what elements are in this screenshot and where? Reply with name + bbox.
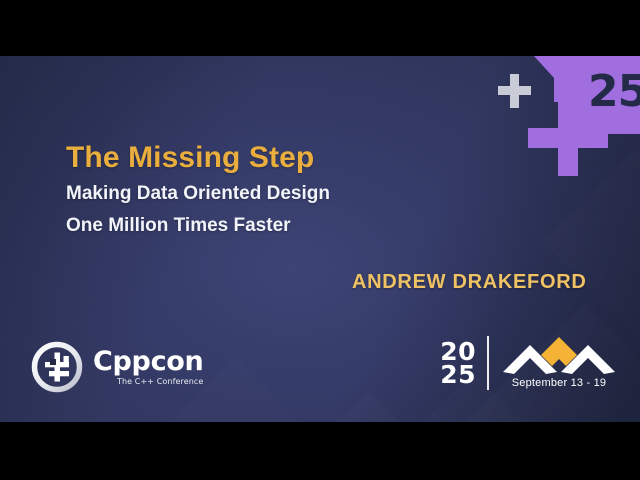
vertical-divider (487, 336, 489, 390)
mountains-and-dates: September 13 - 19 (500, 337, 618, 389)
subtitle-line-1: Making Data Oriented Design (66, 182, 330, 206)
cppcon-wordmark-group: Cppcon The C++ Conference (93, 348, 203, 387)
cppcon-25-corner-badge: 25 (480, 56, 640, 176)
page-title: The Missing Step (66, 142, 330, 174)
event-date-lockup: 20 25 September 13 - 19 (440, 336, 618, 390)
cppcon-mountains-icon (500, 337, 618, 374)
cppcon-wordmark: Cppcon (93, 348, 203, 375)
headline-block: The Missing Step Making Data Oriented De… (66, 142, 330, 238)
speaker-name: ANDREW DRAKEFORD (352, 271, 587, 294)
letterbox-bar-bottom (0, 422, 640, 480)
cppcon-circle-plus-icon (30, 340, 84, 394)
letterbox-bar-top (0, 0, 640, 56)
cppcon-logo-lockup: Cppcon The C++ Conference (30, 340, 203, 394)
video-slide-frame: 25 The Missing Step Making Data Oriented… (0, 0, 640, 480)
event-dates: September 13 - 19 (512, 377, 607, 389)
subtitle-line-2: One Million Times Faster (66, 214, 330, 238)
slide-stage: 25 The Missing Step Making Data Oriented… (0, 56, 640, 422)
event-year-stack: 20 25 (440, 340, 476, 386)
corner-year-text: 25 (588, 66, 640, 117)
event-year-bottom: 25 (440, 363, 476, 386)
cppcon-tagline: The C++ Conference (117, 378, 203, 386)
